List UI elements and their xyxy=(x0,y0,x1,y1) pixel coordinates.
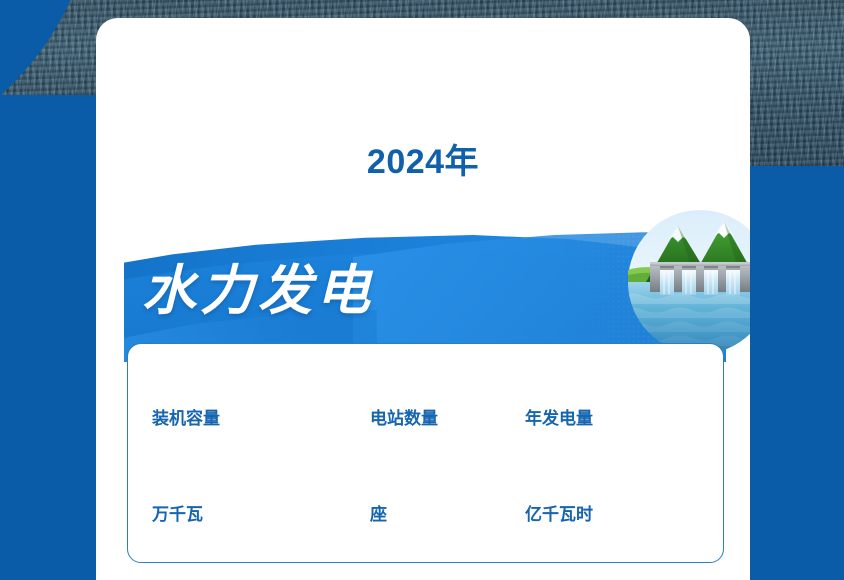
blue-left-strip xyxy=(0,95,96,185)
stat-unit-installed-capacity: 万千瓦 xyxy=(152,500,203,525)
stat-unit-annual-generation: 亿千瓦时 xyxy=(525,500,593,525)
stat-unit-station-count: 座 xyxy=(370,500,387,525)
stat-label-installed-capacity: 装机容量 xyxy=(152,404,220,429)
stat-label-station-count: 电站数量 xyxy=(370,404,438,429)
stat-label-annual-generation: 年发电量 xyxy=(525,404,593,429)
page-title: 2024年 xyxy=(96,134,750,183)
info-card: 2024年 水力发电 xyxy=(96,18,750,580)
banner-title: 水力发电 xyxy=(142,264,374,318)
hydroelectric-dam-icon xyxy=(620,204,750,364)
stats-panel: 装机容量 电站数量 年发电量 万千瓦 座 亿千瓦时 xyxy=(127,343,724,563)
